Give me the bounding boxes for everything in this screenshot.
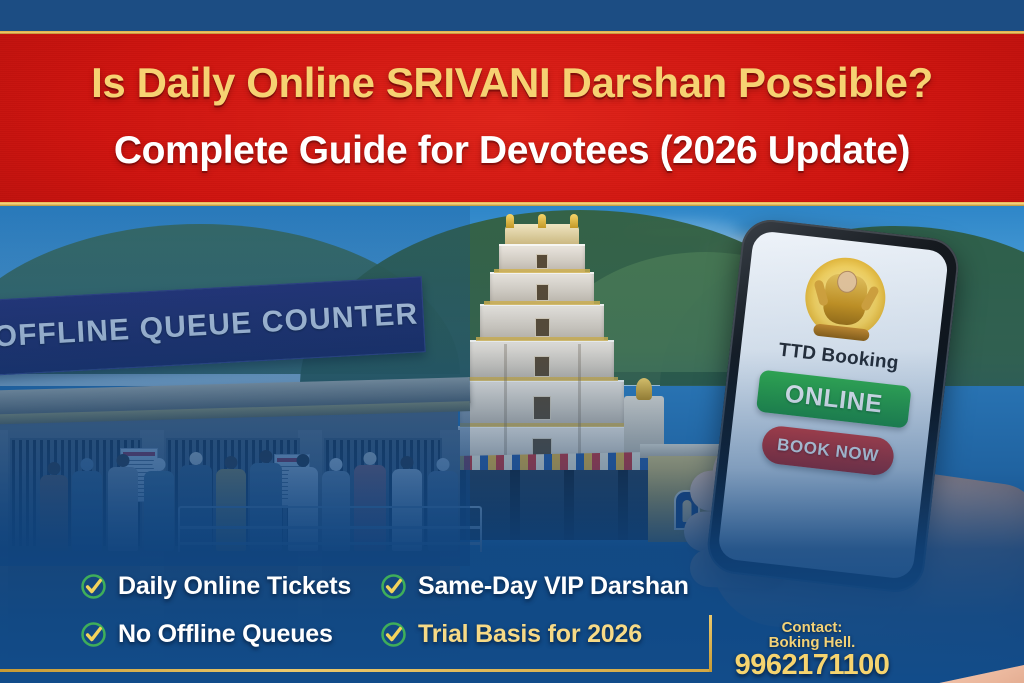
deity-idol-icon	[798, 250, 893, 345]
offline-queue-sign-text: OFFLINE QUEUE COUNTER	[0, 298, 419, 355]
person	[40, 475, 68, 551]
headline-secondary: Complete Guide for Devotees (2026 Update…	[0, 131, 1024, 170]
poster-canvas: Is Daily Online SRIVANI Darshan Possible…	[0, 0, 1024, 683]
temple-gopuram	[452, 224, 632, 474]
check-circle-icon	[80, 621, 107, 648]
online-badge-label: ONLINE	[783, 379, 884, 419]
person	[144, 471, 174, 551]
photo-collage: OFFLINE QUEUE COUNTER	[0, 206, 1024, 683]
feature-item: No Offline Queues	[80, 620, 333, 649]
smartphone: TTD Booking ONLINE BOOK NOW	[705, 217, 962, 595]
feature-label: Daily Online Tickets	[118, 572, 351, 601]
book-now-button[interactable]: BOOK NOW	[760, 424, 895, 477]
feature-label: No Offline Queues	[118, 620, 333, 649]
feature-item: Daily Online Tickets	[80, 572, 351, 601]
feature-item: Same-Day VIP Darshan	[380, 572, 689, 601]
check-circle-icon	[80, 573, 107, 600]
feature-label: Trial Basis for 2026	[418, 620, 642, 649]
feature-item: Trial Basis for 2026	[380, 620, 642, 649]
hand-holding-phone: TTD Booking ONLINE BOOK NOW	[606, 224, 1024, 683]
person	[72, 471, 102, 551]
online-badge: ONLINE	[756, 370, 912, 429]
feature-label: Same-Day VIP Darshan	[418, 572, 689, 601]
queue-railing	[178, 506, 482, 552]
person	[108, 467, 138, 551]
top-blue-strip	[0, 0, 1024, 31]
check-circle-icon	[380, 573, 407, 600]
headline-primary: Is Daily Online SRIVANI Darshan Possible…	[0, 62, 1024, 104]
book-now-label: BOOK NOW	[776, 435, 880, 466]
phone-screen: TTD Booking ONLINE BOOK NOW	[717, 230, 949, 580]
check-circle-icon	[380, 621, 407, 648]
